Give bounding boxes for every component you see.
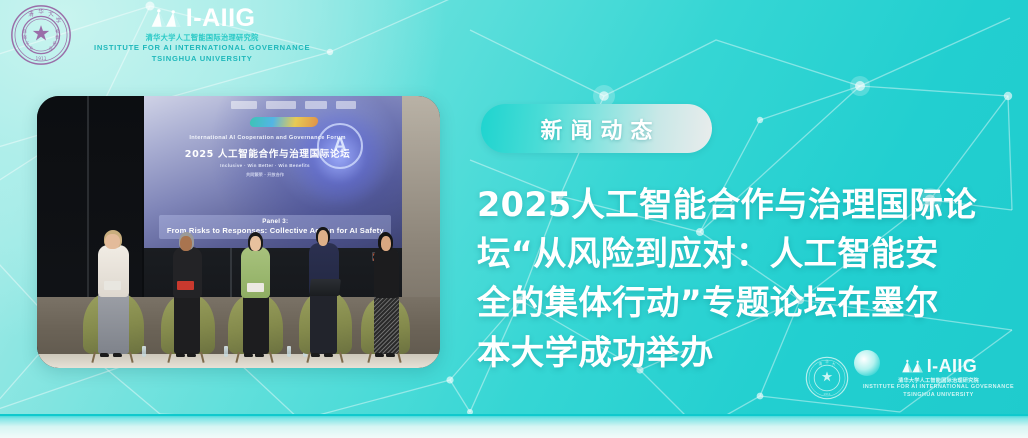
sponsor-logo	[266, 101, 296, 109]
brand-en-line2: TSINGHUA UNIVERSITY	[94, 54, 310, 64]
bottom-accent-strip	[0, 414, 1028, 438]
panelist	[158, 205, 227, 355]
svg-text:清: 清	[819, 361, 823, 366]
footer-brand-en-line2: TSINGHUA UNIVERSITY	[863, 392, 1014, 399]
svg-text:大: 大	[832, 361, 836, 366]
news-category-label: 新闻动态	[532, 113, 660, 145]
news-category-badge[interactable]: 新闻动态	[481, 104, 712, 153]
svg-text:息: 息	[29, 46, 33, 51]
tsinghua-seal-icon: 清华大学 自强不息 厚德载物 1911	[10, 4, 72, 66]
svg-text:不: 不	[25, 42, 29, 46]
screen-ribbon-graphic	[248, 117, 318, 127]
svg-text:自: 自	[23, 29, 27, 34]
screen-sponsor-logos	[231, 101, 356, 109]
svg-text:1911: 1911	[823, 392, 830, 396]
iaiig-logo-row: I-AIIG	[94, 6, 310, 31]
header-brand-lockup: 清华大学 自强不息 厚德载物 1911 I-AIIG 清华大学人工智	[0, 0, 310, 66]
screen-subtitle-en: Inclusive · Win Better · Win Benefits	[144, 163, 386, 168]
panelist	[81, 202, 158, 354]
headline-title: 2025人工智能合作与治理国际论 坛“从风险到应对：人工智能安 全的集体行动”专…	[477, 180, 1004, 377]
water-bottle	[287, 346, 291, 357]
footer-brand-cn-name: 清华大学人工智能国际治理研究院	[863, 377, 1014, 384]
svg-text:厚: 厚	[49, 46, 53, 51]
news-banner: 清华大学 自强不息 厚德载物 1911 I-AIIG 清华大学人工智	[0, 0, 1028, 438]
svg-text:华: 华	[825, 359, 829, 364]
brand-en-line1: INSTITUTE FOR AI INTERNATIONAL GOVERNANC…	[94, 43, 310, 53]
photo-scene: A International AI Cooperation and Gover…	[37, 96, 440, 368]
tsinghua-seal-icon: 清华大 1911	[805, 356, 849, 400]
footer-brand-en-line1: INSTITUTE FOR AI INTERNATIONAL GOVERNANC…	[863, 384, 1014, 391]
sponsor-logo	[231, 101, 257, 109]
sponsor-logo	[336, 101, 356, 109]
footer-iaiig-row: I-AIIG	[863, 357, 1014, 375]
footer-iaiig-acronym: I-AIIG	[927, 357, 977, 375]
iaiig-mountain-mark-icon	[900, 359, 925, 374]
screen-subtitle-cn: 共同繁荣 · 开放合作	[144, 172, 386, 178]
svg-text:1911: 1911	[35, 56, 46, 62]
brand-cn-name: 清华大学人工智能国际治理研究院	[94, 33, 310, 43]
footer-brand-text: I-AIIG 清华大学人工智能国际治理研究院 INSTITUTE FOR AI …	[863, 357, 1014, 399]
svg-text:载: 载	[55, 35, 59, 40]
panelist	[226, 205, 295, 355]
iaiig-acronym: I-AIIG	[186, 6, 256, 31]
svg-text:强: 强	[23, 35, 27, 40]
panelist	[295, 199, 364, 354]
sponsor-logo	[305, 101, 327, 109]
panelist	[359, 205, 423, 355]
iaiig-mountain-mark-icon	[149, 8, 183, 29]
water-bottle	[142, 346, 146, 357]
footer-brand-lockup: 清华大 1911 I-AIIG 清华大学人工智能国际治理研究院 INSTITUT…	[805, 356, 1014, 400]
svg-text:德: 德	[53, 41, 57, 46]
svg-text:华: 华	[38, 7, 44, 15]
screen-cn-title: 2025 人工智能合作与治理国际论坛	[144, 146, 392, 160]
event-photo: A International AI Cooperation and Gover…	[37, 96, 440, 368]
screen-en-title: International AI Cooperation and Governa…	[144, 135, 392, 141]
svg-text:物: 物	[55, 29, 59, 34]
brand-text-block: I-AIIG 清华大学人工智能国际治理研究院 INSTITUTE FOR AI …	[94, 6, 310, 64]
